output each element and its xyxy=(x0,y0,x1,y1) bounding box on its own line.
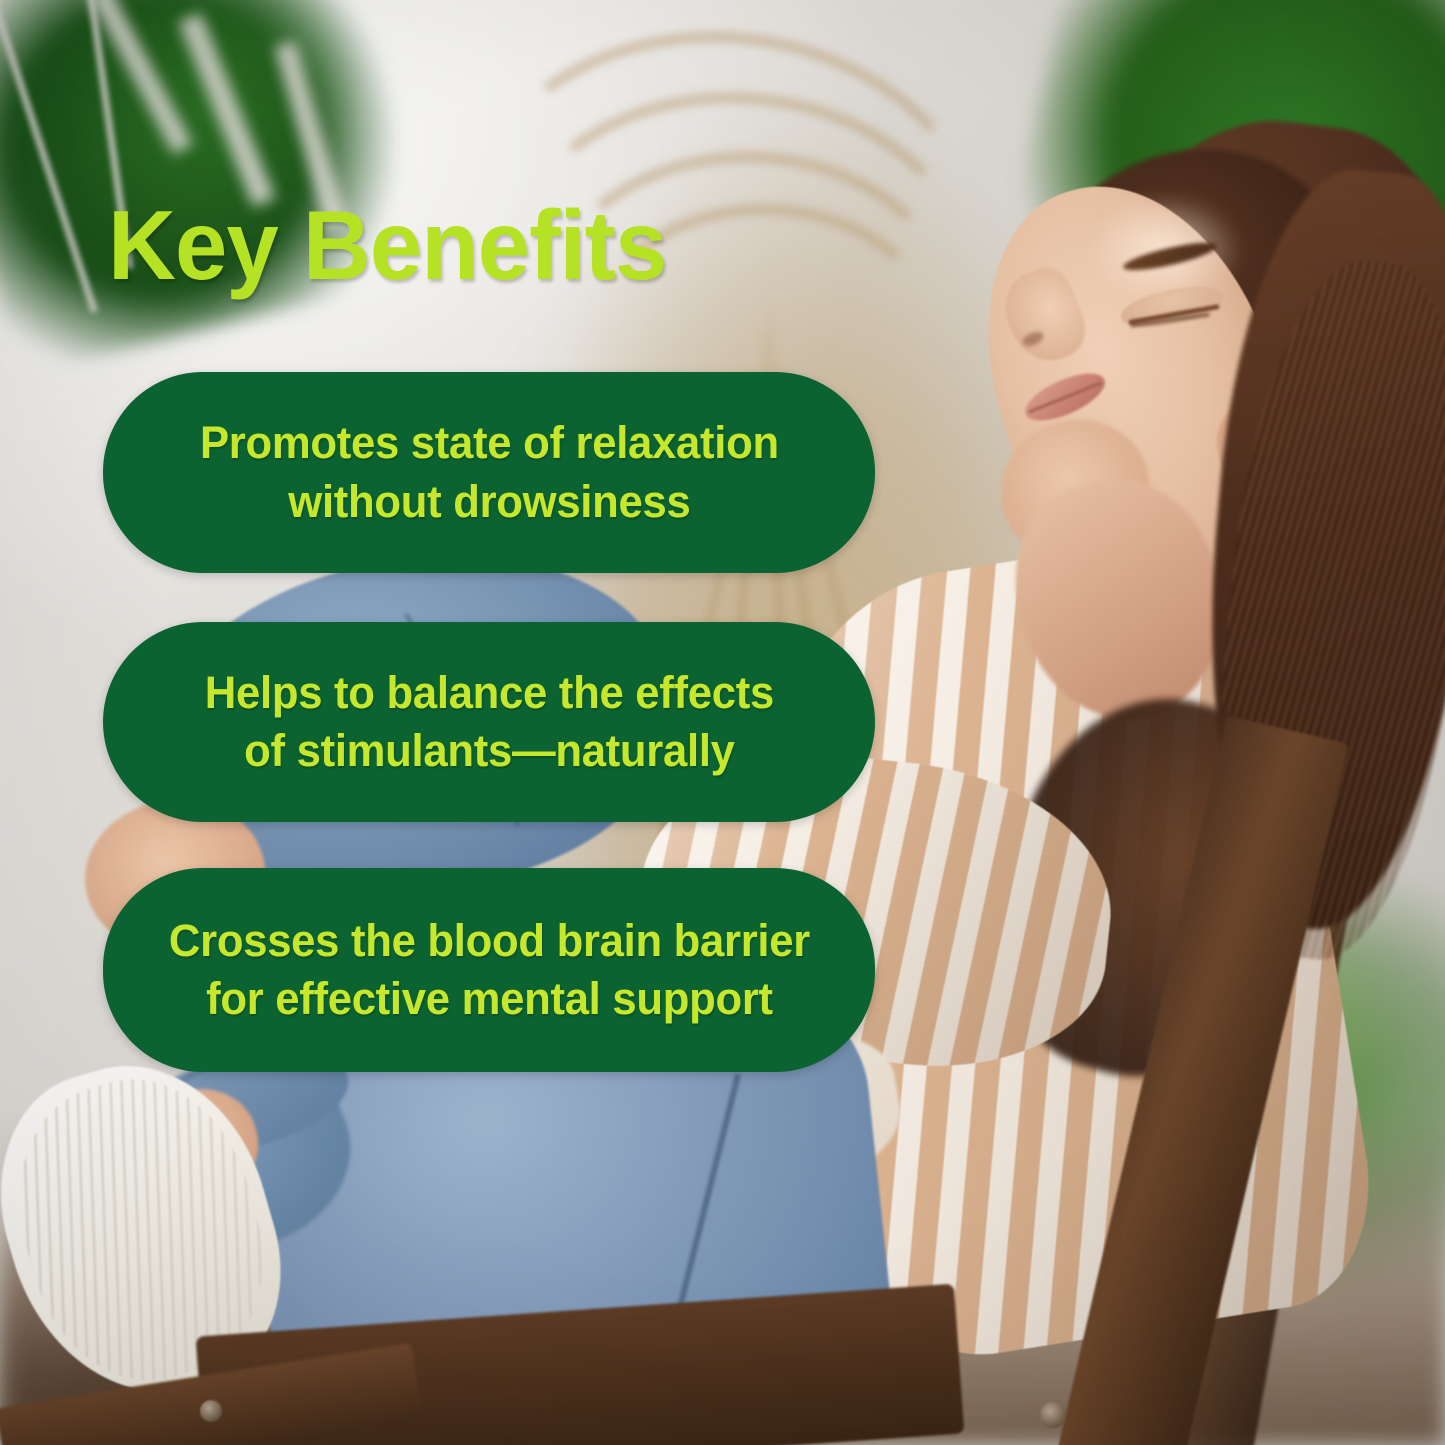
benefit-card-text: Crosses the blood brain barrier for effe… xyxy=(135,912,842,1029)
chair-bolt xyxy=(1040,1402,1066,1428)
page-title: Key Benefits xyxy=(108,196,666,294)
benefit-card-text: Helps to balance the effects of stimulan… xyxy=(171,664,806,781)
chair-bolt xyxy=(200,1400,222,1422)
benefit-card-text: Promotes state of relaxation without dro… xyxy=(167,414,812,531)
benefit-line-1: Helps to balance the effects xyxy=(204,667,773,718)
benefit-line-2: of stimulants—naturally xyxy=(244,725,735,776)
benefit-line-1: Promotes state of relaxation xyxy=(200,417,779,468)
marketing-graphic: Key Benefits Promotes state of relaxatio… xyxy=(0,0,1445,1445)
benefit-card-blood-brain-barrier: Crosses the blood brain barrier for effe… xyxy=(103,868,875,1072)
benefit-card-relaxation: Promotes state of relaxation without dro… xyxy=(103,372,875,573)
benefit-line-2: for effective mental support xyxy=(206,973,773,1024)
benefit-line-1: Crosses the blood brain barrier xyxy=(168,915,809,966)
benefit-line-2: without drowsiness xyxy=(288,476,690,527)
benefit-card-stimulants: Helps to balance the effects of stimulan… xyxy=(103,622,875,822)
